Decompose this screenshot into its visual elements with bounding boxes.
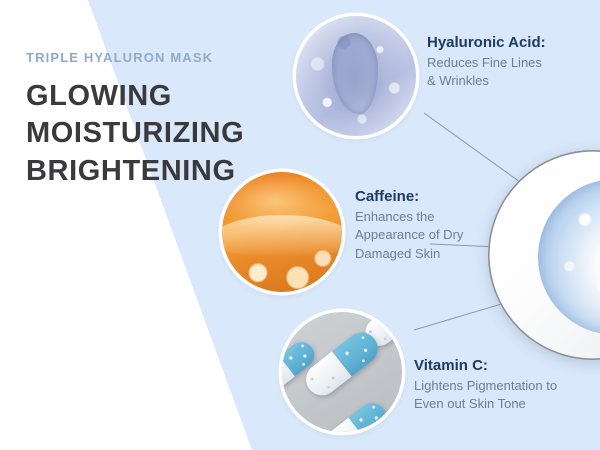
- hyaluronic-acid-gel-photo: [296, 16, 416, 136]
- headline-line-1: GLOWING: [26, 78, 276, 115]
- product-jar-image[interactable]: [488, 150, 600, 360]
- desc-line-2: Even out Skin Tone: [414, 395, 557, 413]
- ingredient-image-hyaluronic-acid[interactable]: [296, 16, 416, 136]
- vitamin-c-capsules-photo: [282, 312, 402, 432]
- ingredient-description-hyaluronic-acid: Reduces Fine Lines & Wrinkles: [427, 54, 546, 91]
- headline-line-3: BRIGHTENING: [26, 153, 276, 190]
- desc-line-1: Lightens Pigmentation to: [414, 377, 557, 395]
- infographic-canvas: TRIPLE HYALURON MASK GLOWING MOISTURIZIN…: [0, 0, 600, 450]
- desc-line-2: & Wrinkles: [427, 72, 546, 90]
- product-jar-gel: [538, 179, 600, 334]
- page-title: GLOWING MOISTURIZING BRIGHTENING: [26, 78, 276, 190]
- desc-line-1: Enhances the: [355, 208, 463, 226]
- headline-block: TRIPLE HYALURON MASK GLOWING MOISTURIZIN…: [26, 50, 276, 190]
- ingredient-description-caffeine: Enhances the Appearance of Dry Damaged S…: [355, 208, 463, 263]
- capsule-bottom-right: [321, 397, 391, 432]
- ingredient-image-vitamin-c[interactable]: [282, 312, 402, 432]
- ingredient-term-hyaluronic-acid: Hyaluronic Acid:: [427, 34, 546, 51]
- desc-line-2: Appearance of Dry: [355, 226, 463, 244]
- ingredient-term-vitamin-c: Vitamin C:: [414, 357, 557, 374]
- ingredient-term-caffeine: Caffeine:: [355, 188, 463, 205]
- desc-line-3: Damaged Skin: [355, 245, 463, 263]
- ingredient-callout-hyaluronic-acid: Hyaluronic Acid: Reduces Fine Lines & Wr…: [427, 34, 546, 91]
- desc-line-1: Reduces Fine Lines: [427, 54, 546, 72]
- ingredient-callout-vitamin-c: Vitamin C: Lightens Pigmentation to Even…: [414, 357, 557, 414]
- connector-line-hyaluronic: [424, 113, 520, 182]
- headline-line-2: MOISTURIZING: [26, 115, 276, 152]
- ingredient-description-vitamin-c: Lightens Pigmentation to Even out Skin T…: [414, 377, 557, 414]
- ingredient-callout-caffeine: Caffeine: Enhances the Appearance of Dry…: [355, 188, 463, 263]
- capsule-main: [300, 326, 384, 402]
- eyebrow-text: TRIPLE HYALURON MASK: [26, 50, 276, 65]
